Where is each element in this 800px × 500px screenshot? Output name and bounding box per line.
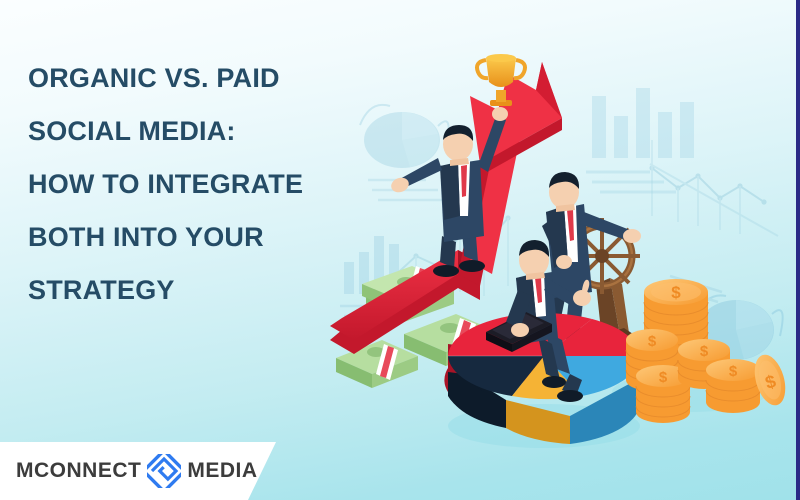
- svg-text:$: $: [729, 363, 738, 380]
- mconnect-diamond-spiral-icon: [147, 454, 181, 488]
- logo-banner[interactable]: MCONNECT MEDIA: [0, 442, 290, 500]
- title-line-3: HOW TO INTEGRATE: [28, 158, 388, 211]
- background-bar-chart-topright: [586, 88, 694, 192]
- title-line-5: STRATEGY: [28, 264, 388, 317]
- logo-word-right: MEDIA: [187, 459, 257, 483]
- page-title: ORGANIC VS. PAID SOCIAL MEDIA: HOW TO IN…: [28, 52, 388, 317]
- banner-canvas: $ $: [0, 0, 800, 500]
- illustration-artwork: $ $: [330, 40, 800, 460]
- logo-word-left: MCONNECT: [16, 459, 141, 483]
- logo-lockup[interactable]: MCONNECT MEDIA: [16, 454, 258, 488]
- title-line-2: SOCIAL MEDIA:: [28, 105, 388, 158]
- svg-text:$: $: [671, 283, 681, 302]
- title-line-4: BOTH INTO YOUR: [28, 211, 388, 264]
- svg-text:$: $: [659, 369, 668, 386]
- title-line-1: ORGANIC VS. PAID: [28, 52, 388, 105]
- svg-text:$: $: [648, 333, 657, 350]
- svg-text:$: $: [700, 343, 709, 360]
